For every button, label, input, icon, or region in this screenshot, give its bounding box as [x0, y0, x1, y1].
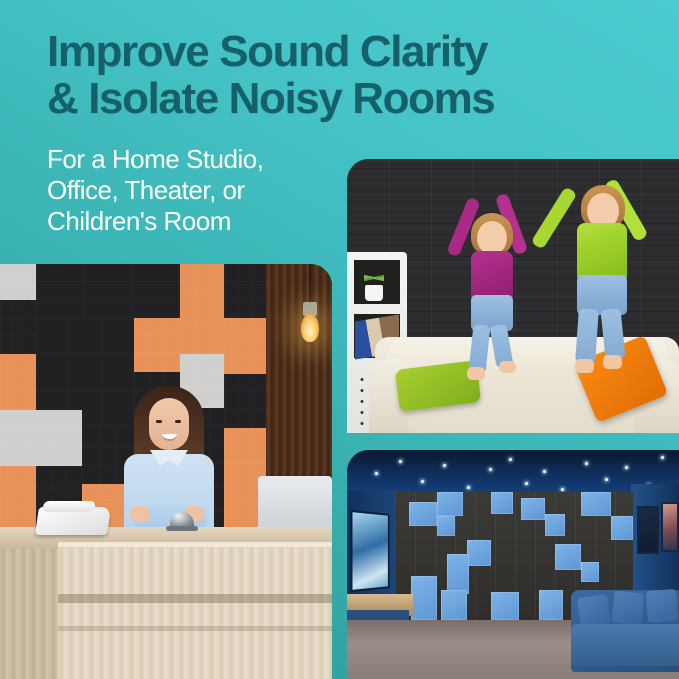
wall-tv: [351, 510, 390, 592]
acoustic-panel-blue: [581, 562, 599, 582]
star-light-icon: [661, 456, 664, 459]
receptionist-figure: [120, 386, 218, 546]
acoustic-panel-blue: [611, 516, 633, 540]
star-light-icon: [467, 486, 470, 489]
leg-left: [575, 308, 599, 363]
acoustic-panel-grey: [0, 264, 36, 300]
acoustic-panel-dark: [224, 374, 266, 428]
acoustic-panel-blue: [545, 514, 565, 536]
star-light-icon: [375, 472, 378, 475]
foot-left: [467, 367, 485, 380]
acoustic-panel-dark: [224, 264, 266, 318]
acoustic-panel-orange: [224, 318, 266, 374]
star-light-icon: [625, 466, 628, 469]
acoustic-panel-blue: [409, 502, 437, 526]
star-light-icon: [443, 464, 446, 467]
pendant-cord: [309, 264, 311, 304]
acoustic-panel-blue: [491, 592, 519, 620]
acoustic-panel-blue: [467, 540, 491, 566]
star-light-icon: [421, 480, 424, 483]
sofa-cushion-3: [646, 589, 678, 623]
foot-left: [575, 359, 594, 373]
acoustic-panel-orange: [0, 466, 36, 534]
acoustic-panel-blue: [539, 590, 563, 620]
acoustic-panel-blue: [437, 492, 463, 516]
desk-groove-upper: [58, 594, 332, 603]
star-light-icon: [585, 462, 588, 465]
desk-groove-lower: [58, 626, 332, 631]
foot-right: [603, 355, 622, 369]
acoustic-panel-orange: [0, 354, 36, 410]
acoustic-panel-blue: [491, 492, 513, 514]
foot-right: [499, 361, 516, 373]
sofa-cushion-2: [611, 591, 644, 626]
sofa-cushion-1: [577, 594, 611, 628]
star-light-icon: [543, 470, 546, 473]
product-banner: Improve Sound Clarity & Isolate Noisy Ro…: [0, 0, 679, 679]
acoustic-panel-blue: [555, 544, 581, 570]
star-light-icon: [561, 488, 564, 491]
leg-right: [600, 308, 625, 360]
movie-poster-1: [637, 506, 659, 554]
smile: [162, 434, 177, 441]
page-title: Improve Sound Clarity & Isolate Noisy Ro…: [47, 28, 647, 122]
acoustic-panel-blue: [437, 516, 455, 536]
eye-right: [175, 420, 181, 423]
acoustic-panel-blue: [581, 492, 611, 516]
pendant-bulb-icon: [301, 314, 319, 342]
page-subtitle: For a Home Studio, Office, Theater, or C…: [47, 144, 647, 237]
acoustic-panel-blue: [447, 554, 469, 594]
hand-left: [130, 506, 150, 522]
eye-left: [156, 420, 162, 423]
desk-front-panel: [58, 542, 332, 679]
headline-block: Improve Sound Clarity & Isolate Noisy Ro…: [47, 28, 647, 237]
star-light-icon: [605, 478, 608, 481]
sofa-seat: [571, 624, 679, 666]
acoustic-panel-dark: [36, 264, 180, 318]
acoustic-panel-dark: [0, 300, 36, 354]
acoustic-panel-grey: [0, 410, 82, 466]
acoustic-panel-blue: [441, 590, 467, 620]
star-light-icon: [399, 460, 402, 463]
star-light-icon: [489, 468, 492, 471]
acoustic-panel-orange: [180, 264, 224, 354]
acoustic-panel-orange: [134, 318, 180, 372]
home-theater-photo: [347, 450, 679, 679]
star-light-icon: [509, 458, 512, 461]
magenta-top: [471, 251, 513, 301]
plant-pot: [365, 285, 383, 301]
movie-poster-2: [661, 502, 679, 552]
desk-phone: [35, 507, 111, 535]
star-light-icon: [525, 482, 528, 485]
desk-side-panel: [0, 549, 64, 679]
acoustic-panel-blue: [521, 498, 545, 520]
office-reception-photo: [0, 264, 332, 679]
acoustic-panel-blue: [411, 576, 437, 620]
face: [149, 398, 189, 450]
